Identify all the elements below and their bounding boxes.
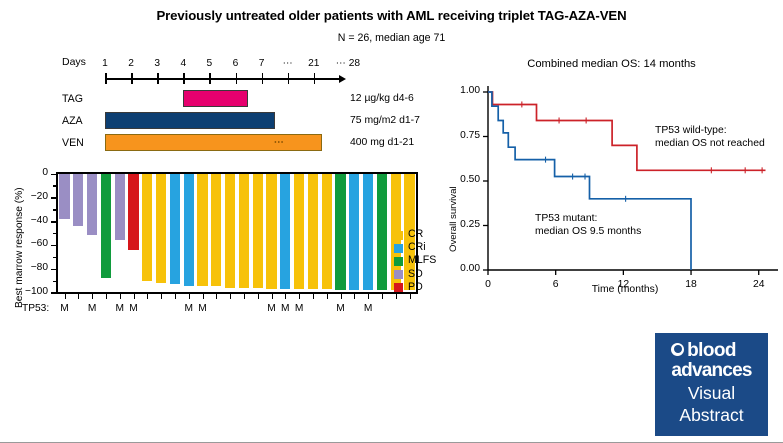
km-annotation-line: TP53 mutant: <box>535 212 641 225</box>
logo-line-visual: Visual <box>655 383 768 404</box>
waterfall-bar <box>128 174 138 250</box>
drug-dose-aza: 75 mg/m2 d1-7 <box>350 115 420 126</box>
tp53-mutant-marker: M <box>128 303 140 314</box>
waterfall-bar <box>59 174 69 219</box>
tp53-mutant-marker: M <box>293 303 305 314</box>
drug-dose-tag: 12 µg/kg d4-6 <box>350 93 414 104</box>
legend-swatch-icon <box>394 270 403 279</box>
waterfall-y-tick-label: −20 <box>18 191 48 202</box>
waterfall-bar <box>322 174 332 289</box>
waterfall-bar <box>225 174 235 288</box>
drug-bar-ven <box>105 134 322 151</box>
waterfall-x-tick-mark <box>175 294 176 299</box>
treatment-schedule-panel: Days 1234567⋯21⋯ 28 TAG12 µg/kg d4-6AZA7… <box>0 52 450 167</box>
km-annotation-mutant: TP53 mutant:median OS 9.5 months <box>535 212 641 239</box>
day-tick-mark <box>157 73 159 84</box>
waterfall-x-tick-mark <box>230 294 231 299</box>
tp53-mutant-marker: M <box>86 303 98 314</box>
tp53-mutant-marker: M <box>183 303 195 314</box>
waterfall-x-tick-mark <box>396 294 397 299</box>
km-annotation-line: median OS 9.5 months <box>535 225 641 238</box>
waterfall-bar <box>142 174 152 281</box>
waterfall-bar <box>211 174 221 287</box>
waterfall-x-tick-mark <box>161 294 162 299</box>
waterfall-x-tick-mark <box>134 294 135 299</box>
day-tick-label: ⋯ 28 <box>331 58 365 69</box>
waterfall-y-tick-label: −80 <box>18 262 48 273</box>
tp53-mutant-marker: M <box>197 303 209 314</box>
waterfall-bar <box>170 174 180 284</box>
waterfall-bar <box>363 174 373 290</box>
tp53-mutant-marker: M <box>266 303 278 314</box>
day-tick-label: 5 <box>198 58 220 69</box>
legend-swatch-icon <box>394 283 403 292</box>
tp53-row-label: TP53: <box>22 303 49 314</box>
waterfall-x-axis-line <box>56 292 418 294</box>
day-tick-mark <box>236 73 238 84</box>
day-tick-label: 6 <box>225 58 247 69</box>
kaplan-meier-chart: Combined median OS: 14 months Overall su… <box>440 52 783 312</box>
visual-abstract-figure: Previously untreated older patients with… <box>0 0 783 443</box>
logo-line-blood: blood <box>655 340 768 362</box>
waterfall-x-tick-mark <box>299 294 300 299</box>
waterfall-x-tick-mark <box>65 294 66 299</box>
legend-label: MLFS <box>408 254 436 267</box>
cohort-subtitle: N = 26, median age 71 <box>0 32 783 44</box>
ven-bar-ellipsis: ⋯ <box>274 137 285 148</box>
days-axis-label: Days <box>62 56 86 68</box>
tp53-mutant-marker: M <box>279 303 291 314</box>
day-tick-mark <box>209 73 211 84</box>
waterfall-x-tick-mark <box>313 294 314 299</box>
waterfall-x-tick-mark <box>258 294 259 299</box>
waterfall-bar <box>73 174 83 226</box>
tp53-mutant-marker: M <box>59 303 71 314</box>
days-axis-arrow <box>339 75 346 83</box>
day-tick-label: 2 <box>120 58 142 69</box>
day-tick-label: 1 <box>94 58 116 69</box>
km-annotation-line: TP53 wild-type: <box>655 124 765 137</box>
legend-label: PD <box>408 281 423 294</box>
waterfall-x-tick-mark <box>285 294 286 299</box>
legend-swatch-icon <box>394 257 403 266</box>
waterfall-x-tick-mark <box>327 294 328 299</box>
day-tick-mark <box>262 73 264 84</box>
waterfall-x-tick-mark <box>244 294 245 299</box>
waterfall-x-tick-mark <box>106 294 107 299</box>
drug-bar-aza <box>105 112 275 129</box>
km-annotation-line: median OS not reached <box>655 137 765 150</box>
logo-line-advances: advances <box>655 360 768 382</box>
waterfall-bar <box>266 174 276 289</box>
waterfall-bar <box>239 174 249 288</box>
tp53-mutant-marker: M <box>114 303 126 314</box>
drug-dose-ven: 400 mg d1-21 <box>350 137 414 148</box>
day-tick-label: 21 <box>303 58 325 69</box>
legend-label: SD <box>408 268 423 281</box>
waterfall-bar <box>280 174 290 289</box>
waterfall-x-tick-mark <box>147 294 148 299</box>
waterfall-chart: Best marrow response (%) 0−20−40−60−80−1… <box>0 168 450 328</box>
waterfall-x-tick-mark <box>354 294 355 299</box>
day-tick-mark <box>183 73 185 84</box>
waterfall-bars-area <box>58 174 417 293</box>
legend-swatch-icon <box>394 244 403 253</box>
waterfall-x-tick-mark <box>410 294 411 299</box>
day-tick-mark <box>314 73 316 84</box>
waterfall-bar <box>308 174 318 289</box>
waterfall-x-tick-mark <box>92 294 93 299</box>
blood-advances-logo: blood advances Visual Abstract <box>655 333 768 436</box>
waterfall-x-tick-mark <box>272 294 273 299</box>
waterfall-x-tick-mark <box>216 294 217 299</box>
km-survival-curves <box>440 52 783 312</box>
drug-bar-tag <box>183 90 248 107</box>
days-axis-line <box>105 78 340 80</box>
logo-line-abstract: Abstract <box>655 405 768 426</box>
day-tick-label: 4 <box>172 58 194 69</box>
waterfall-x-tick-mark <box>382 294 383 299</box>
day-tick-label: ⋯ <box>277 58 299 69</box>
day-tick-mark <box>131 73 133 84</box>
waterfall-x-tick-mark <box>341 294 342 299</box>
waterfall-x-tick-mark <box>189 294 190 299</box>
tp53-mutant-marker: M <box>335 303 347 314</box>
drug-name-tag: TAG <box>62 93 83 105</box>
waterfall-y-tick-label: −40 <box>18 215 48 226</box>
waterfall-bar <box>349 174 359 290</box>
waterfall-x-tick-mark <box>203 294 204 299</box>
waterfall-bar <box>335 174 345 290</box>
waterfall-bar <box>377 174 387 290</box>
waterfall-bar <box>87 174 97 236</box>
legend-label: CRi <box>408 241 426 254</box>
waterfall-y-tick-label: 0 <box>18 167 48 178</box>
km-curve <box>488 92 691 270</box>
waterfall-bar <box>101 174 111 279</box>
waterfall-bar <box>253 174 263 288</box>
waterfall-bar <box>156 174 166 283</box>
day-tick-label: 3 <box>146 58 168 69</box>
km-annotation-wildtype: TP53 wild-type:median OS not reached <box>655 124 765 151</box>
legend-swatch-icon <box>394 231 403 240</box>
waterfall-x-tick-mark <box>78 294 79 299</box>
waterfall-x-tick-mark <box>368 294 369 299</box>
day-tick-label: 7 <box>251 58 273 69</box>
waterfall-bar <box>294 174 304 289</box>
waterfall-y-tick-label: −60 <box>18 238 48 249</box>
waterfall-bar <box>197 174 207 287</box>
waterfall-bar <box>115 174 125 241</box>
waterfall-y-tick-label: −100 <box>18 286 48 297</box>
drug-name-ven: VEN <box>62 137 84 149</box>
day-tick-mark <box>288 73 290 84</box>
drug-name-aza: AZA <box>62 115 83 127</box>
page-title: Previously untreated older patients with… <box>0 8 783 23</box>
tp53-mutant-marker: M <box>362 303 374 314</box>
legend-label: CR <box>408 228 423 241</box>
waterfall-x-tick-mark <box>120 294 121 299</box>
waterfall-bar <box>184 174 194 287</box>
day-tick-mark <box>105 73 107 84</box>
